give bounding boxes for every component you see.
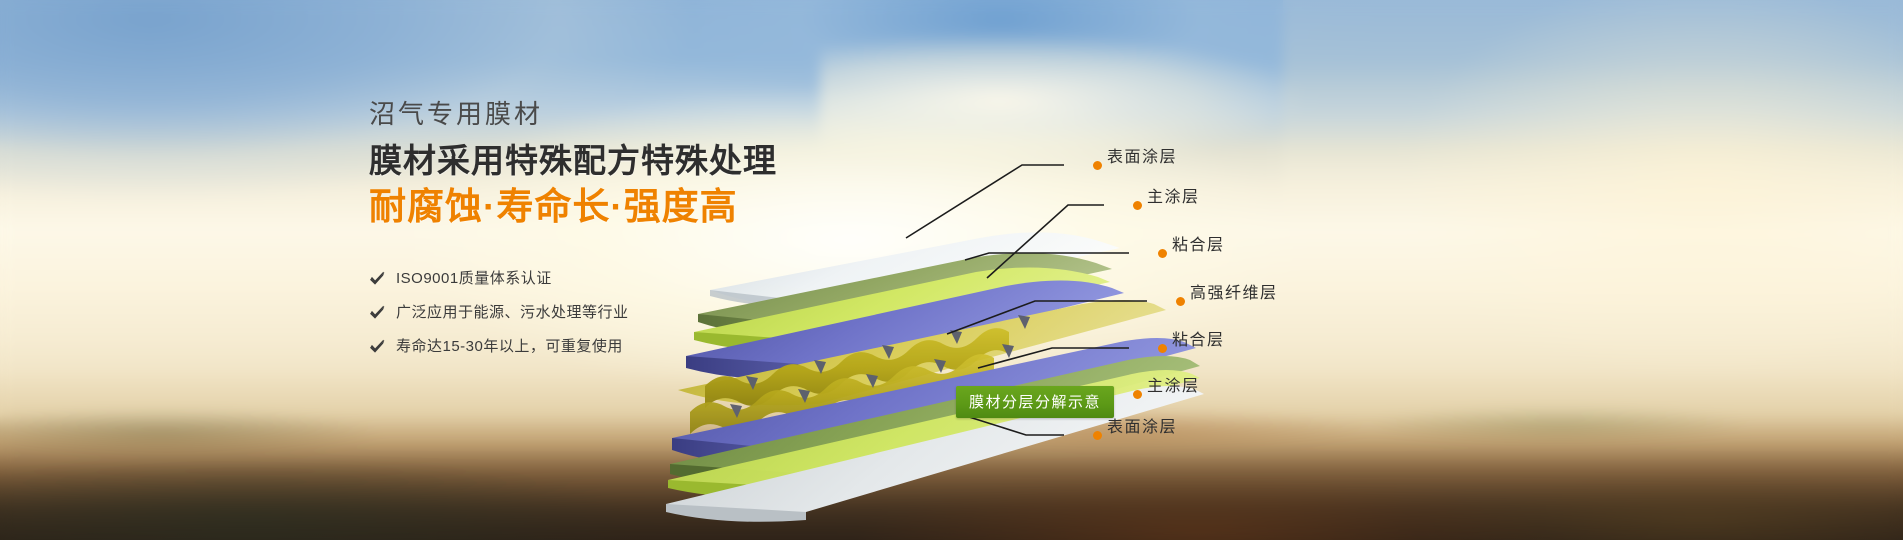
callout-6: 主涂层 bbox=[1147, 379, 1200, 395]
callout-dot bbox=[1133, 390, 1142, 399]
callout-dot bbox=[1093, 161, 1102, 170]
check-icon bbox=[369, 338, 386, 355]
check-icon bbox=[369, 304, 386, 321]
leader-line-1 bbox=[906, 165, 1064, 238]
callout-5: 粘合层 bbox=[1172, 333, 1225, 349]
feature-label: ISO9001质量体系认证 bbox=[396, 270, 552, 288]
callout-2: 主涂层 bbox=[1147, 190, 1200, 206]
callout-dot bbox=[1158, 249, 1167, 258]
feature-label: 寿命达15-30年以上，可重复使用 bbox=[396, 338, 623, 356]
callout-1: 表面涂层 bbox=[1107, 150, 1177, 166]
feature-label: 广泛应用于能源、污水处理等行业 bbox=[396, 304, 629, 322]
promo-banner: 沼气专用膜材 膜材采用特殊配方特殊处理 耐腐蚀·寿命长·强度高 ISO9001质… bbox=[0, 0, 1903, 540]
callout-7: 表面涂层 bbox=[1107, 420, 1177, 436]
callout-dot bbox=[1176, 297, 1185, 306]
check-icon bbox=[369, 270, 386, 287]
callout-dot bbox=[1093, 431, 1102, 440]
callout-4: 高强纤维层 bbox=[1190, 286, 1278, 302]
diagram-badge: 膜材分层分解示意 bbox=[956, 386, 1114, 418]
callout-dot bbox=[1158, 344, 1167, 353]
membrane-layer-diagram: 表面涂层主涂层粘合层高强纤维层粘合层主涂层表面涂层 膜材分层分解示意 bbox=[650, 60, 1880, 540]
layer-stack bbox=[666, 232, 1204, 521]
callout-3: 粘合层 bbox=[1172, 238, 1225, 254]
callout-dot bbox=[1133, 201, 1142, 210]
